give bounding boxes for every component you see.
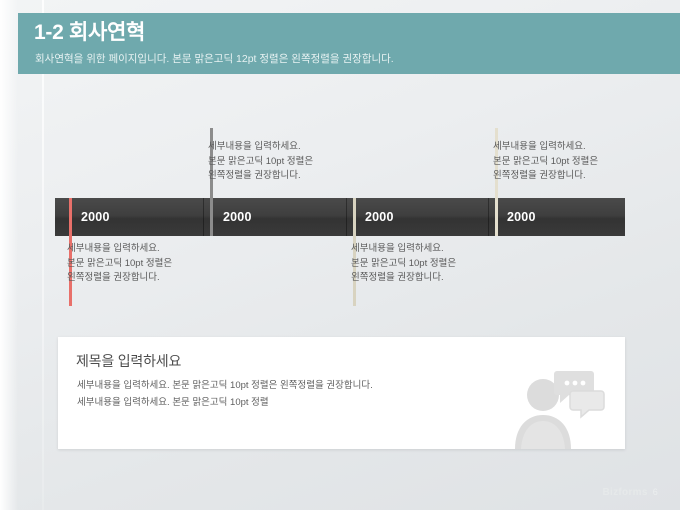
content-card: 제목을 입력하세요 세부내용을 입력하세요. 본문 맑은고딕 10pt 정렬은 … — [58, 337, 625, 449]
timeline-divider — [346, 198, 347, 236]
footer-brand: Bizforms6 — [603, 487, 659, 498]
left-edge-highlight — [0, 0, 18, 510]
footer-page-number: 6 — [653, 487, 658, 497]
card-body-text: 세부내용을 입력하세요. 본문 맑은고딕 10pt 정렬은 왼쪽정렬을 권장합니… — [77, 378, 373, 411]
timeline-year-1: 2000 — [81, 210, 110, 224]
timeline-text-1: 세부내용을 입력하세요. 본문 맑은고딕 10pt 정렬은 왼쪽정렬을 권장합니… — [67, 242, 217, 286]
page-subtitle: 회사연혁을 위한 페이지입니다. 본문 맑은고딕 12pt 정렬은 왼쪽정렬을 … — [35, 53, 394, 66]
slide-header: 1-2 회사연혁 회사연혁을 위한 페이지입니다. 본문 맑은고딕 12pt 정… — [18, 13, 680, 74]
person-speech-bubbles-icon — [507, 361, 615, 449]
slide: 1-2 회사연혁 회사연혁을 위한 페이지입니다. 본문 맑은고딕 12pt 정… — [0, 0, 680, 510]
timeline: 2000 세부내용을 입력하세요. 본문 맑은고딕 10pt 정렬은 왼쪽정렬을… — [55, 110, 625, 310]
timeline-bar — [55, 198, 625, 236]
left-accent-line — [42, 0, 44, 510]
timeline-year-3: 2000 — [365, 210, 394, 224]
page-title: 1-2 회사연혁 — [34, 21, 145, 44]
timeline-year-4: 2000 — [507, 210, 536, 224]
timeline-text-2: 세부내용을 입력하세요. 본문 맑은고딕 10pt 정렬은 왼쪽정렬을 권장합니… — [208, 140, 358, 184]
card-title: 제목을 입력하세요 — [76, 351, 181, 371]
timeline-text-4: 세부내용을 입력하세요. 본문 맑은고딕 10pt 정렬은 왼쪽정렬을 권장합니… — [493, 140, 643, 184]
timeline-divider — [203, 198, 204, 236]
timeline-divider — [488, 198, 489, 236]
timeline-year-2: 2000 — [223, 210, 252, 224]
timeline-text-3: 세부내용을 입력하세요. 본문 맑은고딕 10pt 정렬은 왼쪽정렬을 권장합니… — [351, 242, 501, 286]
footer-brand-label: Bizforms — [603, 487, 648, 498]
